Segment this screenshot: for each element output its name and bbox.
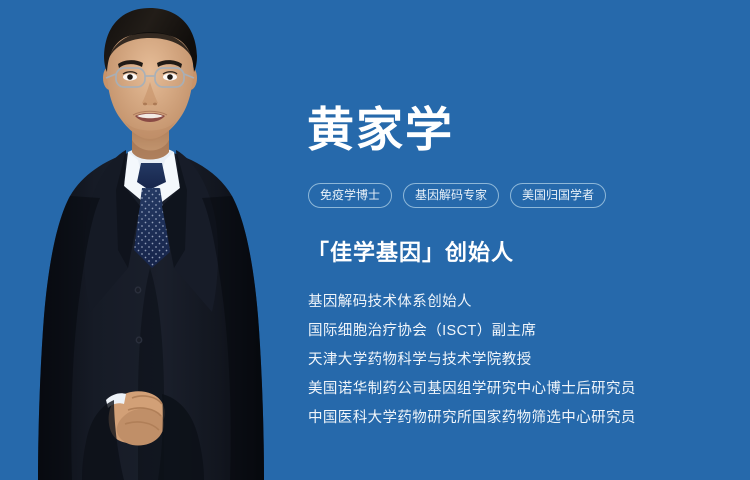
page-title: 黄家学 <box>307 104 454 156</box>
role-title: 「佳学基因」创始人 <box>307 240 514 266</box>
credential-item: 国际细胞治疗协会（ISCT）副主席 <box>308 317 636 346</box>
credential-item: 天津大学药物科学与技术学院教授 <box>308 346 636 375</box>
credential-list: 基因解码技术体系创始人 国际细胞治疗协会（ISCT）副主席 天津大学药物科学与技… <box>308 288 636 433</box>
portrait-photo <box>28 0 273 480</box>
tag-list: 免疫学博士 基因解码专家 美国归国学者 <box>308 183 606 208</box>
credential-item: 基因解码技术体系创始人 <box>308 288 636 317</box>
credential-item: 中国医科大学药物研究所国家药物筛选中心研究员 <box>308 404 636 433</box>
tag-badge-1: 基因解码专家 <box>403 183 499 208</box>
profile-banner: 黄家学 免疫学博士 基因解码专家 美国归国学者 「佳学基因」创始人 基因解码技术… <box>0 0 750 480</box>
profile-info: 黄家学 免疫学博士 基因解码专家 美国归国学者 「佳学基因」创始人 基因解码技术… <box>307 0 737 480</box>
tag-badge-0: 免疫学博士 <box>308 183 392 208</box>
credential-item: 美国诺华制药公司基因组学研究中心博士后研究员 <box>308 375 636 404</box>
tag-badge-2: 美国归国学者 <box>510 183 606 208</box>
